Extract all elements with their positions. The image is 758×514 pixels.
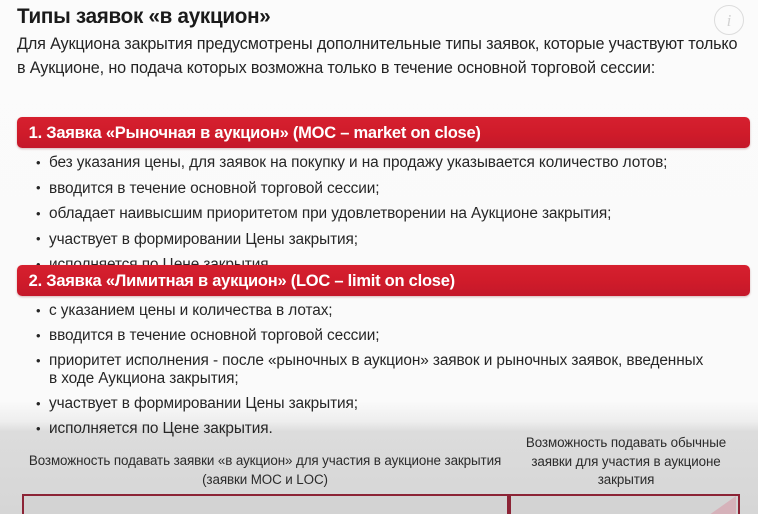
- caption-auction-orders: Возможность подавать заявки «в аукцион» …: [22, 452, 508, 489]
- timeline-box-regular-orders: [509, 494, 740, 514]
- slide-canvas: i Типы заявок «в аукцион» Для Аукциона з…: [0, 0, 758, 514]
- timeline-box-auction-orders: [22, 494, 509, 514]
- caption-regular-orders: Возможность подавать обычные заявки для …: [512, 434, 740, 490]
- info-icon[interactable]: i: [714, 5, 744, 35]
- bullet-text: участвует в формировании Цены закрытия;: [49, 231, 358, 248]
- intro-paragraph: Для Аукциона закрытия предусмотрены допо…: [17, 33, 739, 80]
- list-item: участвует в формировании Цены закрытия;: [36, 231, 736, 249]
- list-item: без указания цены, для заявок на покупку…: [36, 154, 736, 172]
- bullet-text: вводится в течение основной торговой сес…: [49, 180, 379, 197]
- list-item: обладает наивысшим приоритетом при удовл…: [36, 205, 736, 223]
- section-2-bullet-list: с указанием цены и количества в лотах; в…: [36, 302, 736, 445]
- list-item: вводится в течение основной торговой сес…: [36, 327, 736, 345]
- list-item: участвует в формировании Цены закрытия;: [36, 395, 736, 413]
- page-title: Типы заявок «в аукцион»: [17, 4, 679, 29]
- section-1-bullet-list: без указания цены, для заявок на покупку…: [36, 154, 736, 282]
- list-item: с указанием цены и количества в лотах;: [36, 302, 736, 320]
- arrow-wedge-icon: [702, 496, 736, 514]
- section-header-1-label: 1. Заявка «Рыночная в аукцион» (MOC – ma…: [17, 123, 481, 143]
- section-header-1: 1. Заявка «Рыночная в аукцион» (MOC – ma…: [17, 117, 750, 148]
- bullet-text: участвует в формировании Цены закрытия;: [49, 395, 358, 412]
- bullet-text: без указания цены, для заявок на покупку…: [49, 154, 667, 171]
- bullet-text: вводится в течение основной торговой сес…: [49, 327, 379, 344]
- bullet-text-continuation: в ходе Аукциона закрытия;: [49, 370, 736, 388]
- bullet-text: обладает наивысшим приоритетом при удовл…: [49, 205, 611, 222]
- list-item: приоритет исполнения - после «рыночных в…: [36, 352, 736, 388]
- section-header-2: 2. Заявка «Лимитная в аукцион» (LOC – li…: [17, 265, 750, 296]
- section-header-2-label: 2. Заявка «Лимитная в аукцион» (LOC – li…: [17, 271, 455, 291]
- bullet-text: приоритет исполнения - после «рыночных в…: [49, 352, 703, 369]
- bullet-text: исполняется по Цене закрытия.: [49, 420, 273, 437]
- bullet-text: с указанием цены и количества в лотах;: [49, 302, 332, 319]
- list-item: вводится в течение основной торговой сес…: [36, 180, 736, 198]
